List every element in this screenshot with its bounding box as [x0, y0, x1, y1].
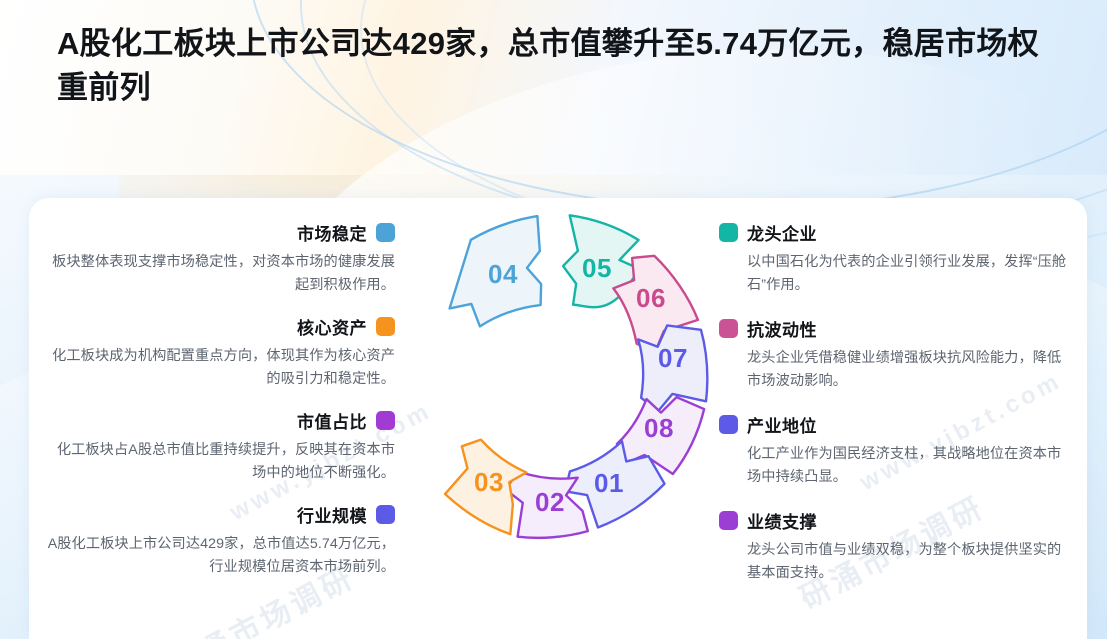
- feature-item-industry-scale[interactable]: 行业规模 A股化工板块上市公司达429家，总市值达5.74万亿元，行业规模位居资…: [47, 502, 395, 579]
- svg-text:06: 06: [636, 283, 666, 313]
- feature-title: 产业地位: [747, 412, 817, 437]
- feature-description: 以中国石化为代表的企业引领行业发展，发挥“压舱石”作用。: [719, 251, 1067, 297]
- ring-segment-03c[interactable]: [407, 337, 476, 419]
- feature-description: 化工板块成为机构配置重点方向，体现其作为核心资产的吸引力和稳定性。: [47, 345, 395, 391]
- feature-item-industry-position[interactable]: 产业地位 化工产业作为国民经济支柱，其战略地位在资本市场中持续凸显。: [719, 412, 1067, 489]
- page-title: A股化工板块上市公司达429家，总市值攀升至5.74万亿元，稳居市场权重前列: [57, 22, 1047, 110]
- ring-segment-04[interactable]: 04: [444, 216, 545, 328]
- svg-text:03: 03: [474, 467, 504, 497]
- left-feature-list: 市场稳定 板块整体表现支撑市场稳定性，对资本市场的健康发展起到积极作用。 核心资…: [47, 220, 395, 596]
- feature-title: 业绩支撑: [747, 508, 817, 533]
- feature-item-core-asset[interactable]: 核心资产 化工板块成为机构配置重点方向，体现其作为核心资产的吸引力和稳定性。: [47, 314, 395, 391]
- feature-item-leading-enterprise[interactable]: 龙头企业 以中国石化为代表的企业引领行业发展，发挥“压舱石”作用。: [719, 220, 1067, 297]
- circular-process-diagram: 04 05 06 07: [385, 208, 733, 556]
- feature-title: 核心资产: [297, 314, 367, 339]
- feature-description: 化工板块占A股总市值比重持续提升，反映其在资本市场中的地位不断强化。: [47, 439, 395, 485]
- svg-text:01: 01: [594, 468, 624, 498]
- feature-title: 行业规模: [297, 502, 367, 527]
- svg-text:08: 08: [644, 413, 674, 443]
- color-swatch-icon: [719, 511, 738, 530]
- feature-description: 化工产业作为国民经济支柱，其战略地位在资本市场中持续凸显。: [719, 443, 1067, 489]
- feature-description: 龙头企业凭借稳健业绩增强板块抗风险能力，降低市场波动影响。: [719, 347, 1067, 393]
- content-card: 研涌市场调研 www.yjbzt.com 研涌市场调研 www.yjbzt.co…: [29, 198, 1087, 639]
- color-swatch-icon: [719, 319, 738, 338]
- feature-item-performance-support[interactable]: 业绩支撑 龙头公司市值与业绩双稳，为整个板块提供坚实的基本面支持。: [719, 508, 1067, 585]
- feature-description: 龙头公司市值与业绩双稳，为整个板块提供坚实的基本面支持。: [719, 539, 1067, 585]
- svg-text:07: 07: [658, 343, 688, 373]
- page-title-container: A股化工板块上市公司达429家，总市值攀升至5.74万亿元，稳居市场权重前列: [57, 22, 1047, 110]
- feature-title: 抗波动性: [747, 316, 817, 341]
- svg-text:05: 05: [582, 253, 612, 283]
- infographic-page: A股化工板块上市公司达429家，总市值攀升至5.74万亿元，稳居市场权重前列 研…: [0, 0, 1107, 639]
- feature-title: 市场稳定: [297, 220, 367, 245]
- feature-item-volatility-resistance[interactable]: 抗波动性 龙头企业凭借稳健业绩增强板块抗风险能力，降低市场波动影响。: [719, 316, 1067, 393]
- feature-description: A股化工板块上市公司达429家，总市值达5.74万亿元，行业规模位居资本市场前列…: [47, 533, 395, 579]
- color-swatch-icon: [719, 415, 738, 434]
- svg-text:04: 04: [488, 259, 518, 289]
- feature-item-market-cap-share[interactable]: 市值占比 化工板块占A股总市值比重持续提升，反映其在资本市场中的地位不断强化。: [47, 408, 395, 485]
- feature-item-market-stability[interactable]: 市场稳定 板块整体表现支撑市场稳定性，对资本市场的健康发展起到积极作用。: [47, 220, 395, 297]
- svg-text:02: 02: [535, 487, 565, 517]
- feature-title: 龙头企业: [747, 220, 817, 245]
- color-swatch-icon: [719, 223, 738, 242]
- feature-description: 板块整体表现支撑市场稳定性，对资本市场的健康发展起到积极作用。: [47, 251, 395, 297]
- ring-svg: 04 05 06 07: [385, 208, 733, 556]
- feature-title: 市值占比: [297, 408, 367, 433]
- right-feature-list: 龙头企业 以中国石化为代表的企业引领行业发展，发挥“压舱石”作用。 抗波动性 龙…: [719, 220, 1067, 604]
